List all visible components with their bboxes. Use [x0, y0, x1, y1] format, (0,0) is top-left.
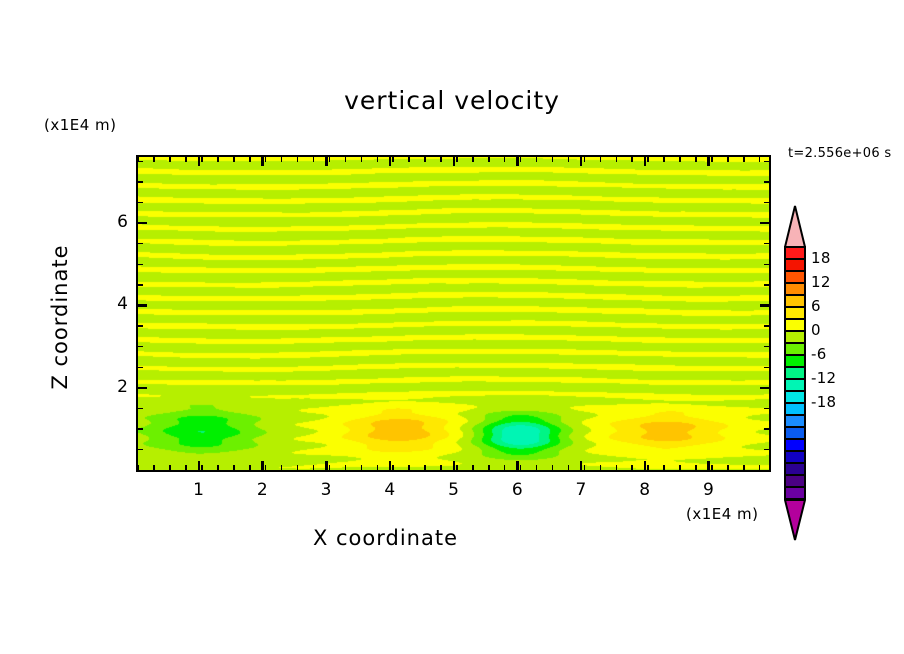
colorbar-under-arrow — [784, 499, 806, 541]
colorbar-separator — [784, 474, 806, 476]
colorbar: 181260-6-12-18 — [775, 205, 823, 505]
colorbar-tick-label: 0 — [811, 321, 821, 339]
colorbar-separator — [784, 354, 806, 356]
colorbar-separator — [784, 258, 806, 260]
colorbar-separator — [784, 426, 806, 428]
y-tick-label: 4 — [104, 294, 128, 314]
y-axis-unit-label: (x1E4 m) — [44, 116, 117, 134]
x-tick-label: 5 — [432, 480, 476, 500]
colorbar-separator — [784, 450, 806, 452]
x-tick-label: 3 — [304, 480, 348, 500]
colorbar-tick-label: 18 — [811, 249, 831, 267]
x-tick-label: 9 — [686, 480, 730, 500]
colorbar-separator — [784, 282, 806, 284]
colorbar-separator — [784, 306, 806, 308]
colorbar-separator — [784, 486, 806, 488]
contour-field — [138, 157, 769, 470]
x-axis-unit-label: (x1E4 m) — [686, 505, 759, 523]
colorbar-tick-label: 12 — [811, 273, 831, 291]
colorbar-separator — [784, 246, 806, 248]
colorbar-tick-label: -6 — [811, 345, 827, 363]
colorbar-over-arrow — [784, 205, 806, 247]
x-tick-label: 7 — [559, 480, 603, 500]
x-tick-label: 6 — [495, 480, 539, 500]
page-title: vertical velocity — [0, 86, 904, 115]
colorbar-separator — [784, 270, 806, 272]
colorbar-separator — [784, 378, 806, 380]
contour-plot-area — [136, 155, 771, 472]
x-tick-label: 1 — [177, 480, 221, 500]
y-axis-title: Z coordinate — [48, 197, 72, 437]
colorbar-tick-label: -18 — [811, 393, 836, 411]
colorbar-separator — [784, 318, 806, 320]
colorbar-tick-label: 6 — [811, 297, 821, 315]
colorbar-separator — [784, 330, 806, 332]
x-tick-label: 2 — [240, 480, 284, 500]
x-axis-title: X coordinate — [0, 526, 771, 550]
colorbar-separator — [784, 390, 806, 392]
colorbar-separator — [784, 294, 806, 296]
colorbar-tick-label: -12 — [811, 369, 836, 387]
colorbar-separator — [784, 342, 806, 344]
x-tick-label: 4 — [368, 480, 412, 500]
y-tick-label: 6 — [104, 212, 128, 232]
time-annotation: t=2.556e+06 s — [788, 146, 891, 161]
colorbar-separator — [784, 462, 806, 464]
colorbar-separator — [784, 438, 806, 440]
colorbar-separator — [784, 366, 806, 368]
colorbar-separator — [784, 414, 806, 416]
colorbar-separator — [784, 402, 806, 404]
y-tick-label: 2 — [104, 377, 128, 397]
x-tick-label: 8 — [623, 480, 667, 500]
